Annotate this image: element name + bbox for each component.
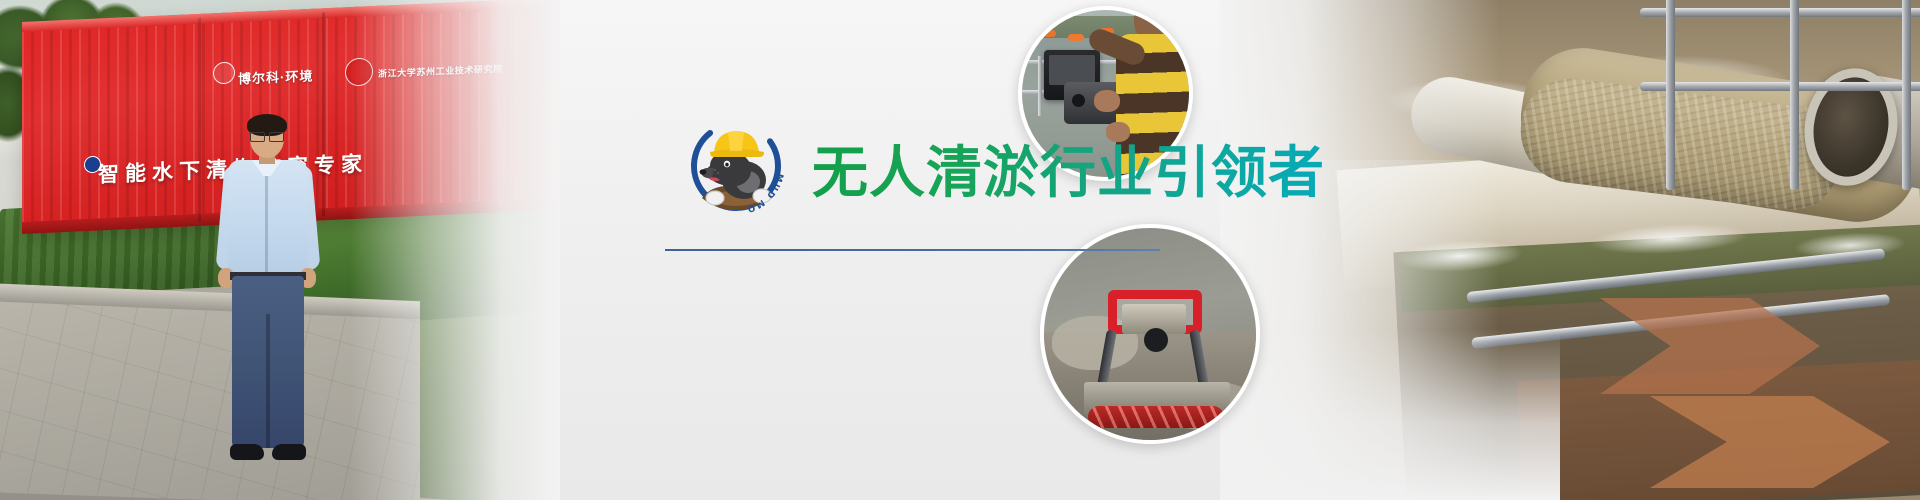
center-content: MUD MOLE 无人清淤行业引领者: [0, 0, 1920, 500]
mud-mole-logo: MUD MOLE: [682, 110, 790, 218]
hero-banner: 博尔科·环境 浙江大学苏州工业技术研究院 智能水下清掏扩容专家: [0, 0, 1920, 500]
headline-divider: [665, 249, 1160, 251]
headline: 无人清淤行业引领者: [812, 128, 1325, 209]
mud-mole-logo-icon: MUD MOLE: [682, 110, 790, 218]
